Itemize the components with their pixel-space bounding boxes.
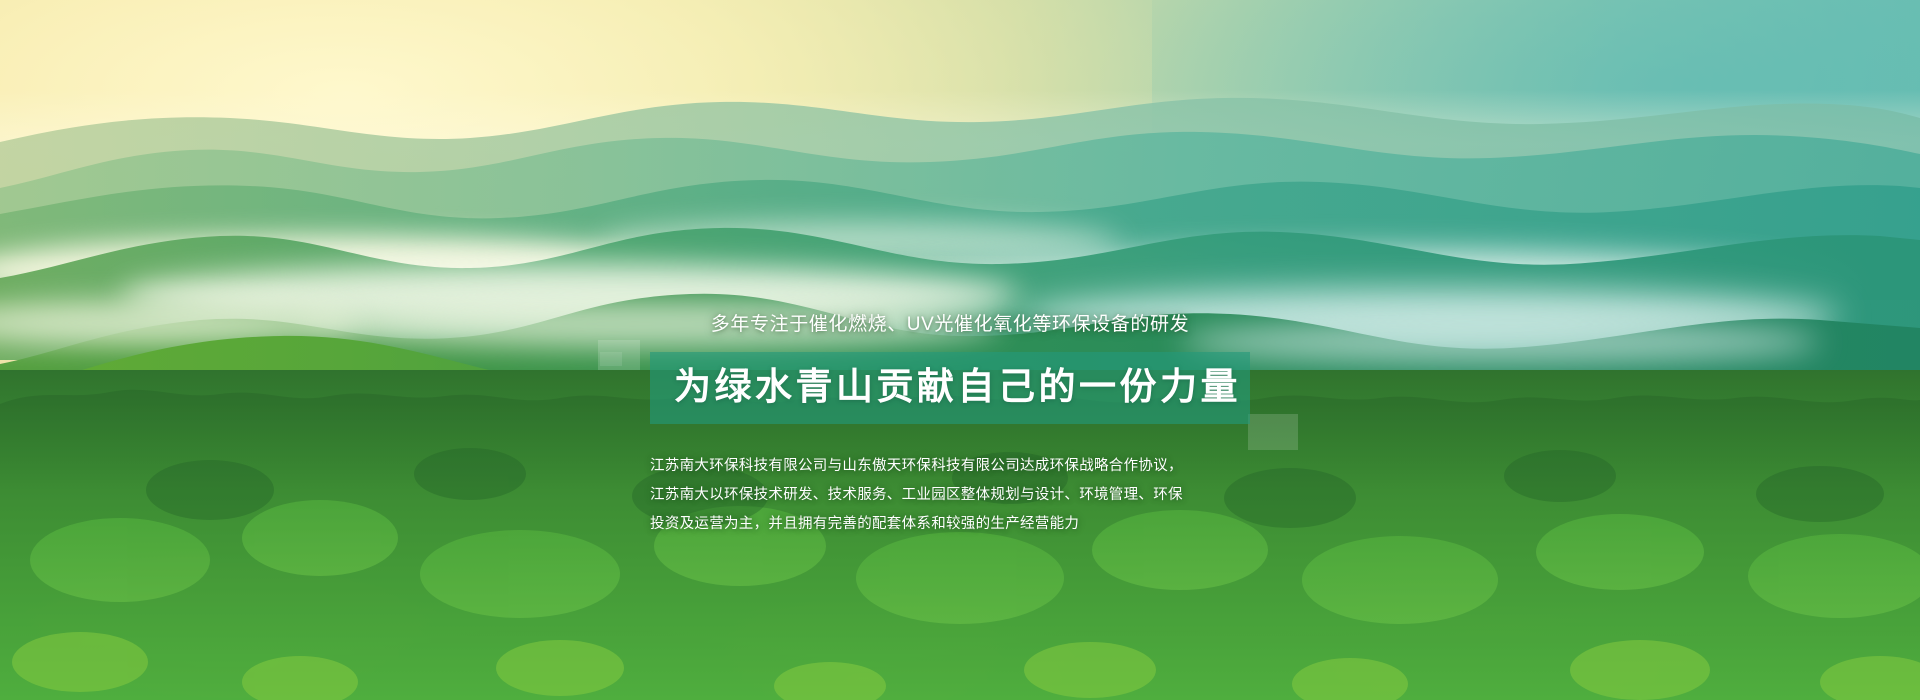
banner-headline: 为绿水青山贡献自己的一份力量 bbox=[674, 366, 1226, 409]
banner-body-copy: 江苏南大环保科技有限公司与山东傲天环保科技有限公司达成环保战略合作协议， 江苏南… bbox=[650, 452, 1250, 539]
banner-content: 多年专注于催化燃烧、UV光催化氧化等环保设备的研发 为绿水青山贡献自己的一份力量… bbox=[640, 312, 1260, 539]
hero-banner: 多年专注于催化燃烧、UV光催化氧化等环保设备的研发 为绿水青山贡献自己的一份力量… bbox=[0, 0, 1920, 700]
headline-highlight-band: 为绿水青山贡献自己的一份力量 bbox=[650, 352, 1250, 425]
body-line: 江苏南大以环保技术研发、技术服务、工业园区整体规划与设计、环境管理、环保 bbox=[650, 481, 1250, 510]
body-line: 投资及运营为主，并且拥有完善的配套体系和较强的生产经营能力 bbox=[650, 510, 1250, 539]
banner-subtitle: 多年专注于催化燃烧、UV光催化氧化等环保设备的研发 bbox=[640, 312, 1260, 338]
body-line: 江苏南大环保科技有限公司与山东傲天环保科技有限公司达成环保战略合作协议， bbox=[650, 452, 1250, 481]
